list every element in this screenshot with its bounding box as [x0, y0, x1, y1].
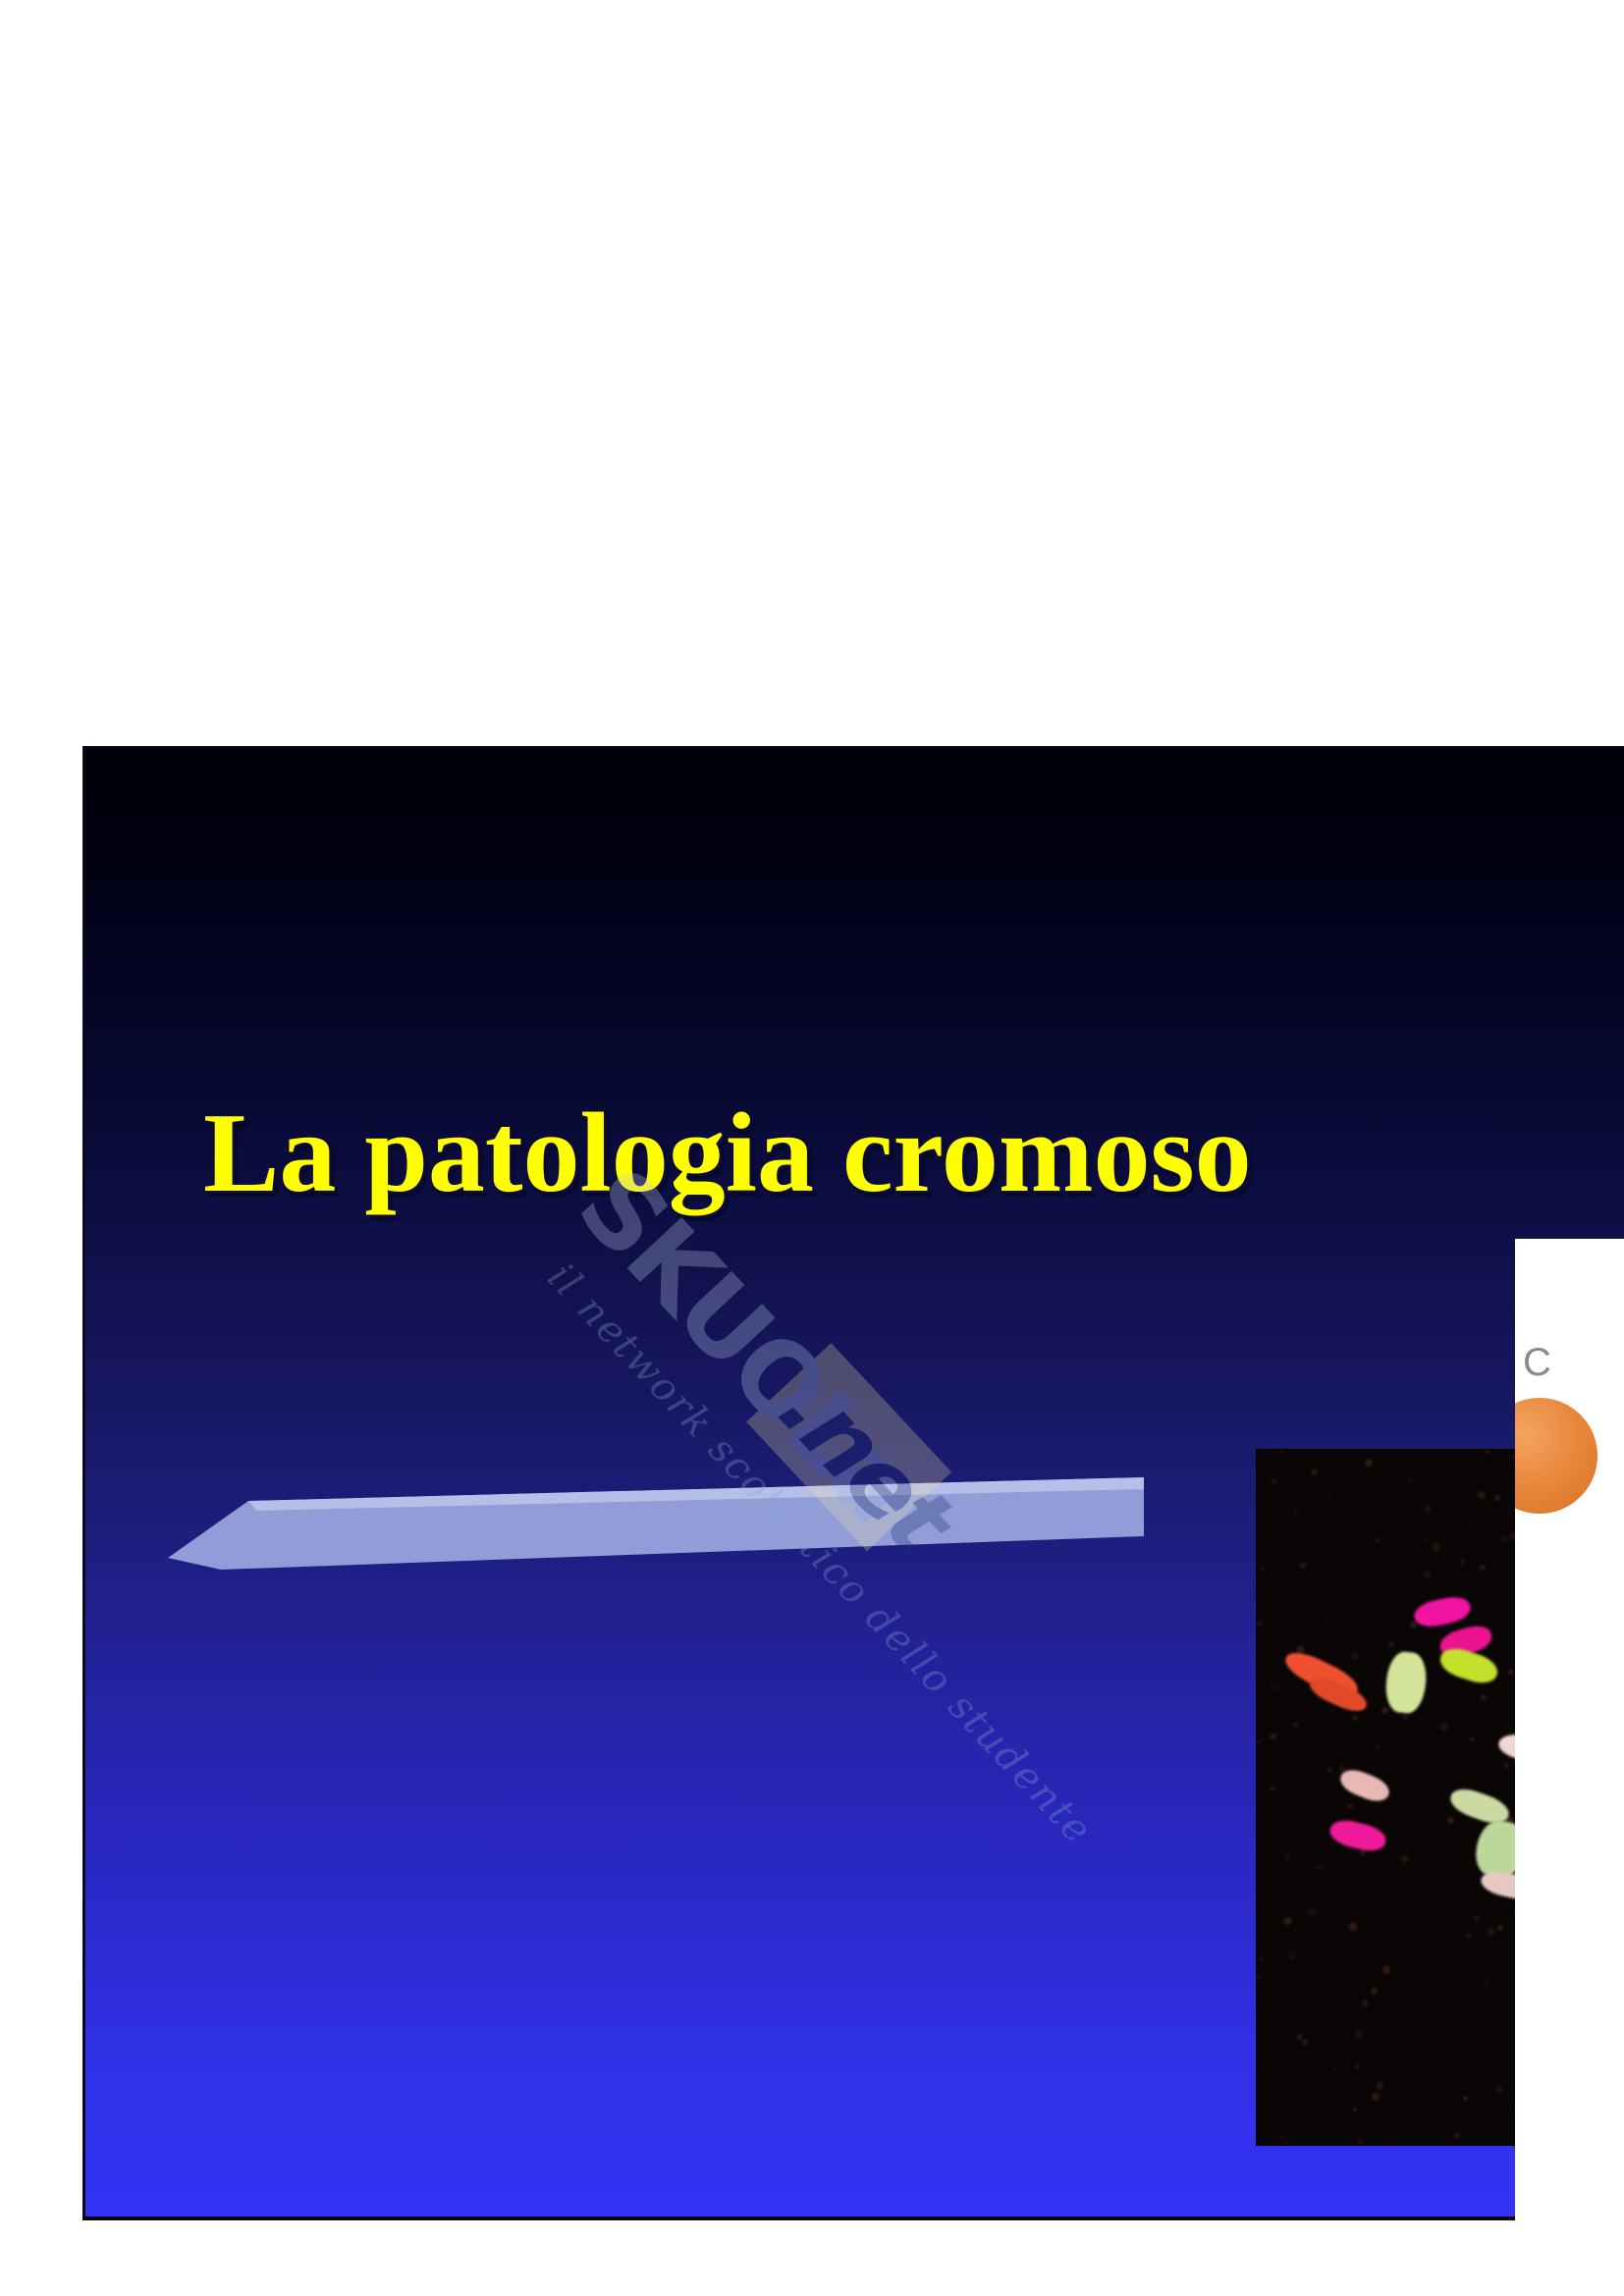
background-speck: [1508, 1670, 1514, 1676]
background-speck: [1327, 1496, 1330, 1499]
background-speck: [1424, 1537, 1429, 1542]
background-speck: [1403, 1715, 1408, 1720]
background-speck: [1495, 2086, 1503, 2094]
watermark-suffix: .net: [764, 1360, 966, 1568]
decorative-swoosh-band: [162, 1464, 1144, 1581]
watermark-tagline: il network scolastico dello studente: [538, 1255, 1101, 1853]
background-speck: [1332, 2068, 1334, 2070]
background-speck: [1365, 1459, 1373, 1467]
background-speck: [1257, 1622, 1263, 1628]
background-speck: [1475, 1916, 1479, 1920]
background-speck: [1296, 1787, 1299, 1789]
background-speck: [1257, 1975, 1262, 1980]
background-speck: [1480, 1694, 1487, 1701]
background-speck: [1289, 1952, 1296, 1959]
background-speck: [1401, 1855, 1409, 1863]
watermark-badge: [746, 1343, 951, 1551]
background-speck: [1382, 1965, 1390, 1973]
background-speck: [1353, 2108, 1357, 2111]
background-speck: [1467, 1526, 1472, 1531]
orange-circle-icon: [1515, 1398, 1597, 1514]
background-speck: [1480, 1565, 1486, 1571]
background-speck: [1317, 1865, 1323, 1871]
background-speck: [1293, 1602, 1295, 1604]
background-speck: [1307, 1908, 1315, 1916]
background-speck: [1260, 1957, 1265, 1962]
background-speck: [1405, 1847, 1409, 1851]
presentation-slide: SKUOLa .net il network scolastico dello …: [82, 746, 1624, 2220]
background-speck: [1486, 1450, 1489, 1454]
background-speck: [1299, 1562, 1306, 1569]
background-speck: [1271, 1684, 1273, 1687]
background-speck: [1351, 1652, 1359, 1660]
background-speck: [1467, 1934, 1472, 1939]
background-speck: [1487, 1927, 1494, 1935]
background-speck: [1279, 2134, 1283, 2138]
background-speck: [1270, 1734, 1276, 1740]
background-speck: [1491, 1921, 1495, 1925]
background-speck: [1501, 1535, 1509, 1543]
background-speck: [1497, 1925, 1503, 1931]
background-speck: [1425, 1505, 1432, 1512]
background-speck: [1494, 1495, 1500, 1501]
background-speck: [1489, 1751, 1490, 1753]
background-speck: [1404, 1457, 1408, 1461]
background-speck: [1270, 1786, 1275, 1791]
chromosome-8: [1383, 1650, 1429, 1715]
background-speck: [1376, 1538, 1380, 1542]
background-speck: [1373, 1931, 1376, 1934]
skuola-watermark: SKUOLa .net il network scolastico dello …: [477, 1142, 1051, 1734]
background-speck: [1478, 1491, 1486, 1499]
background-speck: [1463, 2096, 1468, 2101]
background-speck: [1324, 1621, 1327, 1625]
background-speck: [1447, 1817, 1454, 1824]
background-speck: [1348, 1804, 1352, 1808]
background-speck: [1293, 1510, 1298, 1515]
background-speck: [1409, 1478, 1413, 1482]
background-speck: [1272, 1479, 1276, 1484]
background-speck: [1273, 1753, 1276, 1756]
background-speck: [1318, 1603, 1320, 1605]
background-speck: [1483, 1981, 1489, 1987]
background-speck: [1355, 2030, 1363, 2038]
page-canvas: SKUOLa .net il network scolastico dello …: [0, 0, 1624, 2296]
background-speck: [1327, 1768, 1331, 1772]
background-speck: [1376, 1744, 1380, 1749]
background-speck: [1470, 1737, 1474, 1741]
background-speck: [1454, 2133, 1460, 2139]
background-speck: [1460, 1559, 1465, 1564]
background-speck: [1357, 2139, 1363, 2145]
background-speck: [1275, 1686, 1278, 1689]
background-speck: [1284, 1855, 1291, 1862]
chromosome-16: [1327, 1816, 1389, 1854]
background-speck: [1387, 2139, 1389, 2141]
background-speck: [1297, 2034, 1303, 2040]
background-speck: [1302, 2039, 1308, 2045]
background-speck: [1371, 1988, 1377, 1994]
background-speck: [1283, 1917, 1291, 1925]
background-speck: [1311, 1468, 1318, 1475]
background-speck: [1424, 1571, 1432, 1578]
background-speck: [1508, 2106, 1512, 2109]
background-speck: [1284, 2141, 1287, 2144]
background-speck: [1377, 2082, 1383, 2089]
background-speck: [1349, 1922, 1358, 1931]
background-speck: [1480, 1768, 1483, 1771]
chromosome-3: [1412, 1593, 1473, 1629]
background-speck: [1312, 1961, 1315, 1964]
background-speck: [1362, 2000, 1369, 2006]
background-speck: [1504, 1763, 1508, 1767]
background-speck: [1293, 1723, 1297, 1727]
background-speck: [1257, 1741, 1260, 1744]
background-speck: [1279, 1450, 1282, 1453]
background-speck: [1388, 1641, 1394, 1647]
background-speck: [1372, 2093, 1379, 2100]
background-speck: [1267, 1483, 1269, 1485]
background-speck: [1440, 1723, 1448, 1731]
background-speck: [1261, 1567, 1265, 1571]
background-speck: [1410, 1622, 1417, 1629]
background-speck: [1432, 1543, 1439, 1551]
background-speck: [1381, 1707, 1388, 1714]
right-panel-letter: C: [1523, 1341, 1552, 1385]
background-speck: [1354, 2063, 1360, 2069]
background-speck: [1295, 1523, 1297, 1525]
background-speck: [1398, 1796, 1402, 1800]
right-edge-panel: C: [1515, 1239, 1624, 2296]
page-title: La patologia cromoso: [203, 1095, 1252, 1214]
background-speck: [1352, 1715, 1358, 1721]
chromosome-15: [1336, 1765, 1392, 1806]
